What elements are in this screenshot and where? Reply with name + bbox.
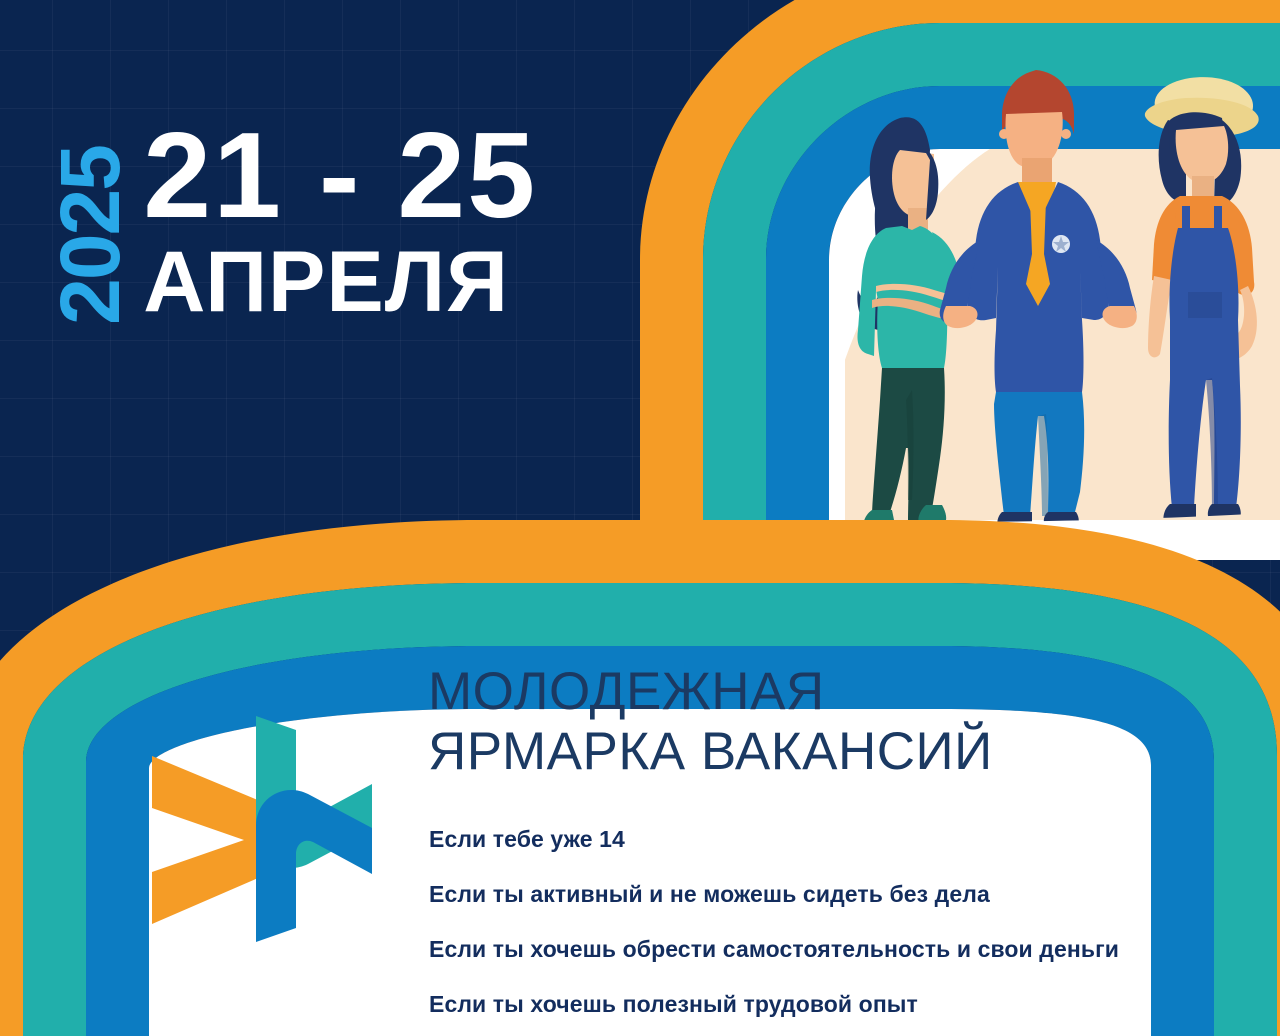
event-days: 21 - 25 (143, 118, 537, 233)
headline-line-1: МОЛОДЕЖНАЯ (428, 662, 993, 722)
three-arrow-burst-logo (148, 712, 376, 946)
list-item: Если тебе уже 14 (429, 826, 1119, 853)
list-item: Если ты активный и не можешь сидеть без … (429, 881, 1119, 908)
event-year: 2025 (52, 146, 129, 325)
poster-canvas: 2025 21 - 25 АПРЕЛЯ МОЛОДЕЖНАЯ ЯРМАРКА В… (0, 0, 1280, 1036)
list-item: Если ты хочешь обрести самостоятельность… (429, 936, 1119, 963)
page-title: МОЛОДЕЖНАЯ ЯРМАРКА ВАКАНСИЙ (428, 662, 993, 783)
headline-line-2: ЯРМАРКА ВАКАНСИЙ (428, 722, 993, 782)
conditions-list: Если тебе уже 14 Если ты активный и не м… (429, 826, 1119, 1036)
list-item: Если ты хочешь полезный трудовой опыт (429, 991, 1119, 1018)
neck (1192, 176, 1214, 198)
event-date-block: 2025 21 - 25 АПРЕЛЯ (52, 118, 537, 325)
star-badge (1052, 235, 1070, 253)
overalls-pocket (1188, 292, 1222, 318)
ear-left (999, 129, 1009, 139)
ear-right (1061, 129, 1071, 139)
event-month: АПРЕЛЯ (143, 239, 537, 325)
neck (908, 208, 928, 230)
